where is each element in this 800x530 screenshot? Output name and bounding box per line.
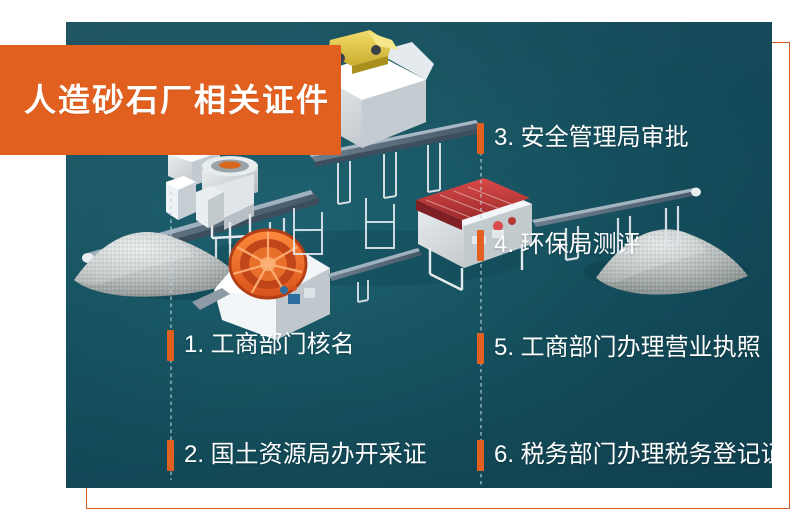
list-item-label: 6. 税务部门办理税务登记证 [494, 443, 772, 467]
list-item-label: 1. 工商部门核名 [184, 333, 355, 357]
bullet-bar-icon [477, 123, 484, 154]
list-item[interactable]: 2. 国土资源局办开采证 [167, 437, 427, 473]
dotted-connector-right [480, 122, 482, 488]
page-title: 人造砂石厂相关证件 [24, 84, 330, 116]
list-item-label: 3. 安全管理局审批 [494, 126, 689, 150]
list-item[interactable]: 6. 税务部门办理税务登记证 [477, 437, 772, 473]
bullet-bar-icon [477, 333, 484, 364]
bullet-bar-icon [167, 440, 174, 471]
title-banner: 人造砂石厂相关证件 [0, 45, 341, 155]
list-item-label: 4. 环保局测评 [494, 233, 641, 257]
list-item[interactable]: 5. 工商部门办理营业执照 [477, 330, 761, 366]
list-item[interactable]: 3. 安全管理局审批 [477, 120, 689, 156]
poster-canvas: 1. 工商部门核名 2. 国土资源局办开采证 3. 安全管理局审批 4. 环保局… [0, 0, 800, 530]
frame-bottom-line [86, 508, 790, 509]
list-column-right: 3. 安全管理局审批 4. 环保局测评 5. 工商部门办理营业执照 6. 税务部… [477, 62, 772, 488]
list-item-label: 5. 工商部门办理营业执照 [494, 336, 761, 360]
list-item[interactable]: 4. 环保局测评 [477, 227, 641, 263]
bullet-bar-icon [167, 330, 174, 361]
bullet-bar-icon [477, 440, 484, 471]
frame-right-line [789, 42, 790, 509]
list-item[interactable]: 1. 工商部门核名 [167, 327, 355, 363]
list-column-left: 1. 工商部门核名 2. 国土资源局办开采证 [167, 172, 467, 488]
list-item-label: 2. 国土资源局办开采证 [184, 443, 427, 467]
bullet-bar-icon [477, 230, 484, 261]
